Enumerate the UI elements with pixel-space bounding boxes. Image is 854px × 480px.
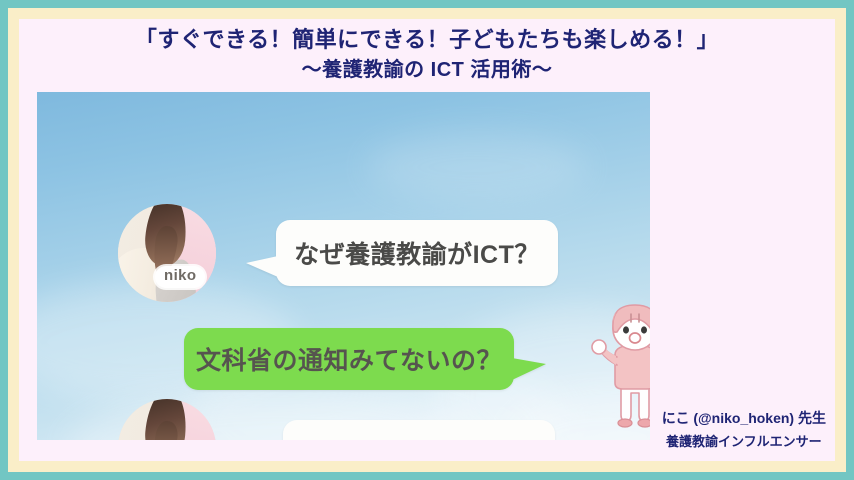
speech-bubble-question: なぜ養護教諭がICT？ [276, 220, 558, 286]
page-title: 「すぐできる！簡単にできる！子どもたちも楽しめる！」 〜養護教諭の ICT 活用… [0, 25, 854, 83]
avatar: niko [118, 204, 216, 302]
bubble-tail-left-icon [246, 256, 278, 277]
title-line-1: 「すぐできる！簡単にできる！子どもたちも楽しめる！」 [0, 25, 854, 54]
avatar: niko [118, 399, 216, 440]
credit-block: にこ (@niko_hoken) 先生 養護教諭インフルエンサー [662, 407, 826, 452]
speech-bubble-reply: 文科省の通知みてないの？ [184, 328, 514, 390]
title-line-2: 〜養護教諭の ICT 活用術〜 [0, 57, 854, 83]
avatar-name-tag: niko [155, 266, 205, 288]
cloud-wisp-icon [367, 132, 587, 202]
credit-role: 養護教諭インフルエンサー [662, 431, 826, 452]
bubble-text: 文科省の通知みてないの？ [196, 341, 502, 377]
bubble-text: 文科省の通知？(汗) [308, 435, 530, 440]
cheering-character-icon [585, 297, 650, 437]
bubble-text: なぜ養護教諭がICT？ [294, 235, 540, 271]
credit-name: にこ (@niko_hoken) 先生 [662, 407, 826, 430]
speech-bubble-response: 文科省の通知？(汗) [283, 420, 555, 440]
sky-photo-panel: niko niko なぜ養護教諭がICT？ 文科省の通知みてないの？ 文科省の通… [37, 92, 650, 440]
slide-root: 「すぐできる！簡単にできる！子どもたちも楽しめる！」 〜養護教諭の ICT 活用… [0, 0, 854, 480]
bubble-tail-right-icon [512, 358, 546, 380]
